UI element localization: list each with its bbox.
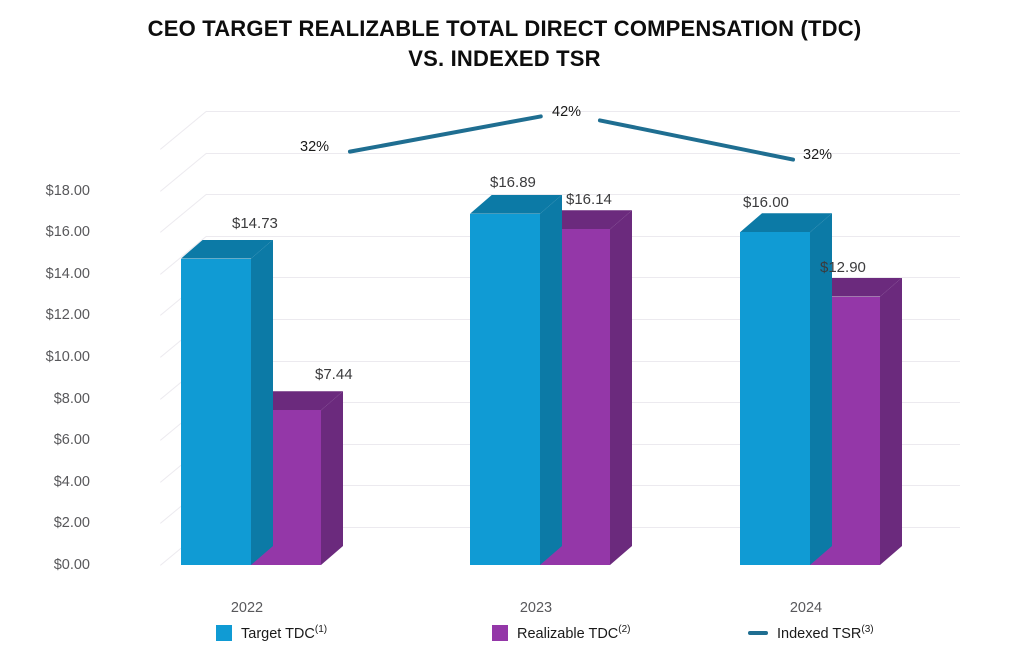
indexed-tsr-line-segment-1: [348, 114, 544, 154]
y-axis-tick-label: $6.00: [0, 433, 90, 447]
bar-front-face: [470, 214, 540, 565]
legend-label-realizable-tdc: Realizable TDC(2): [517, 624, 631, 642]
y-axis-tick-label: $2.00: [0, 516, 90, 530]
chart-legend: Target TDC(1) Realizable TDC(2) Indexed …: [0, 624, 1009, 648]
gridline-riser: [160, 111, 207, 150]
bar-side-face: [251, 240, 273, 565]
gridline-riser: [160, 194, 207, 233]
bar-side-face: [540, 195, 562, 565]
y-axis-tick-label: $18.00: [0, 184, 90, 198]
line-swatch-icon: [748, 631, 768, 635]
legend-label-target-tdc: Target TDC(1): [241, 624, 327, 642]
data-label-indexed-tsr-2023: 42%: [552, 104, 581, 120]
x-axis-tick-label-2022: 2022: [187, 600, 307, 616]
bar-target-tdc-2022: [181, 240, 273, 565]
plot-area: $0.00$2.00$4.00$6.00$8.00$10.00$12.00$14…: [0, 0, 1009, 649]
y-axis-tick-label: $12.00: [0, 308, 90, 322]
indexed-tsr-line-segment-2: [598, 118, 796, 162]
data-label-realizable-tdc-2024: $12.90: [820, 259, 866, 276]
gridline-riser: [160, 153, 207, 192]
y-axis-tick-label: $10.00: [0, 350, 90, 364]
data-label-target-tdc-2023: $16.89: [490, 174, 536, 191]
bar-front-face: [740, 232, 810, 565]
bar-side-face: [880, 278, 902, 565]
data-label-indexed-tsr-2022: 32%: [300, 139, 329, 155]
data-label-indexed-tsr-2024: 32%: [803, 147, 832, 163]
legend-item-realizable-tdc[interactable]: Realizable TDC(2): [492, 624, 631, 642]
bar-side-face: [321, 391, 343, 565]
y-axis-tick-label: $16.00: [0, 225, 90, 239]
bar-target-tdc-2023: [470, 195, 562, 565]
bar-side-face: [610, 210, 632, 565]
gridline: [206, 111, 960, 112]
chart-canvas: CEO TARGET REALIZABLE TOTAL DIRECT COMPE…: [0, 0, 1009, 649]
data-label-realizable-tdc-2022: $7.44: [315, 366, 353, 383]
x-axis-tick-label-2023: 2023: [476, 600, 596, 616]
x-axis-tick-label-2024: 2024: [746, 600, 866, 616]
data-label-realizable-tdc-2023: $16.14: [566, 191, 612, 208]
y-axis-tick-label: $14.00: [0, 267, 90, 281]
bar-target-tdc-2024: [740, 213, 832, 565]
legend-label-indexed-tsr: Indexed TSR(3): [777, 624, 874, 642]
purple-square-swatch-icon: [492, 625, 508, 641]
legend-item-indexed-tsr[interactable]: Indexed TSR(3): [748, 624, 874, 642]
legend-item-target-tdc[interactable]: Target TDC(1): [216, 624, 327, 642]
y-axis-tick-label: $8.00: [0, 392, 90, 406]
y-axis-tick-label: $0.00: [0, 558, 90, 572]
blue-square-swatch-icon: [216, 625, 232, 641]
data-label-target-tdc-2022: $14.73: [232, 215, 278, 232]
data-label-target-tdc-2024: $16.00: [743, 194, 789, 211]
bar-front-face: [181, 259, 251, 565]
y-axis-tick-label: $4.00: [0, 475, 90, 489]
